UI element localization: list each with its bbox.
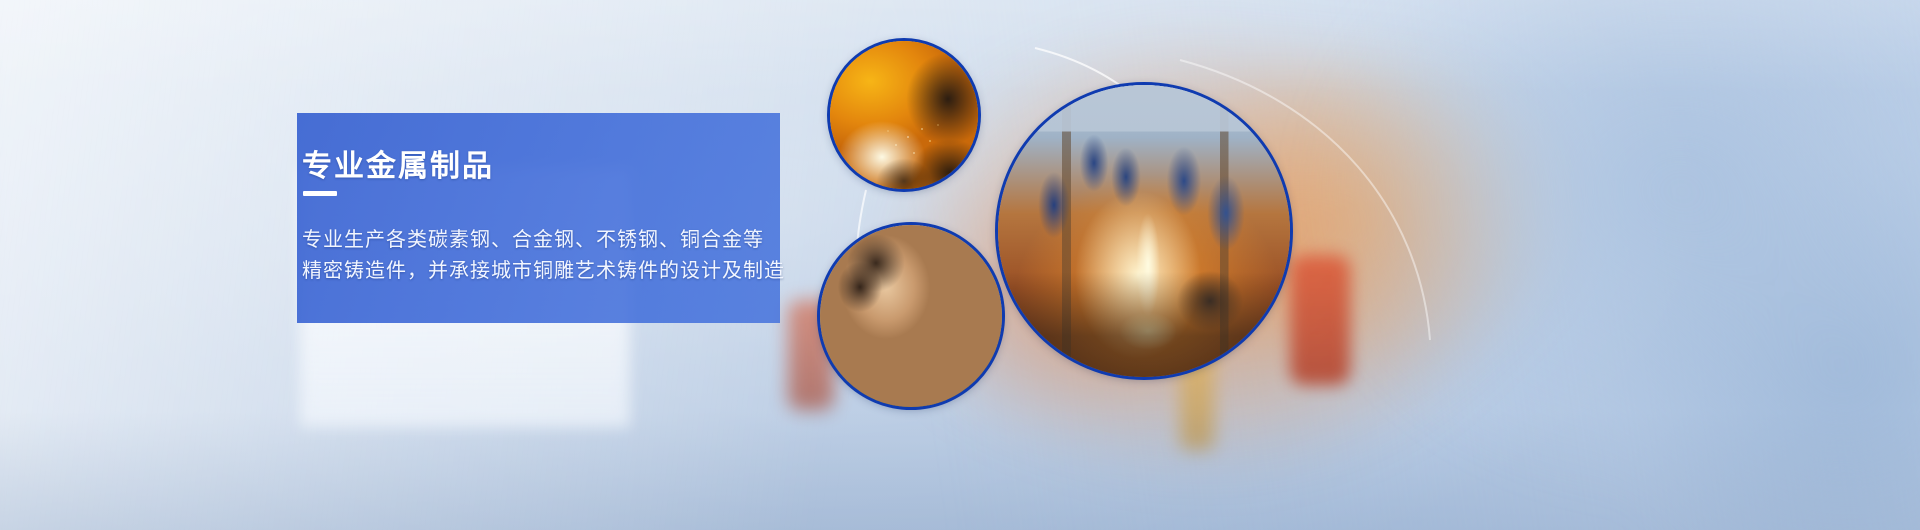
description-line-2: 精密铸造件，并承接城市铜雕艺术铸件的设计及制造 bbox=[302, 256, 785, 287]
description-line-1: 专业生产各类碳素钢、合金钢、不锈钢、铜合金等 bbox=[302, 225, 785, 256]
title-divider bbox=[303, 191, 337, 196]
page-title: 专业金属制品 bbox=[302, 141, 494, 185]
text-content: 专业金属制品 专业生产各类碳素钢、合金钢、不锈钢、铜合金等 精密铸造件，并承接城… bbox=[297, 113, 937, 323]
hero-banner: 专业金属制品 专业生产各类碳素钢、合金钢、不锈钢、铜合金等 精密铸造件，并承接城… bbox=[0, 0, 1920, 530]
foundry-photo-workers bbox=[998, 85, 1290, 377]
foundry-photo bbox=[998, 85, 1290, 377]
description-text: 专业生产各类碳素钢、合金钢、不锈钢、铜合金等 精密铸造件，并承接城市铜雕艺术铸件… bbox=[302, 225, 785, 287]
